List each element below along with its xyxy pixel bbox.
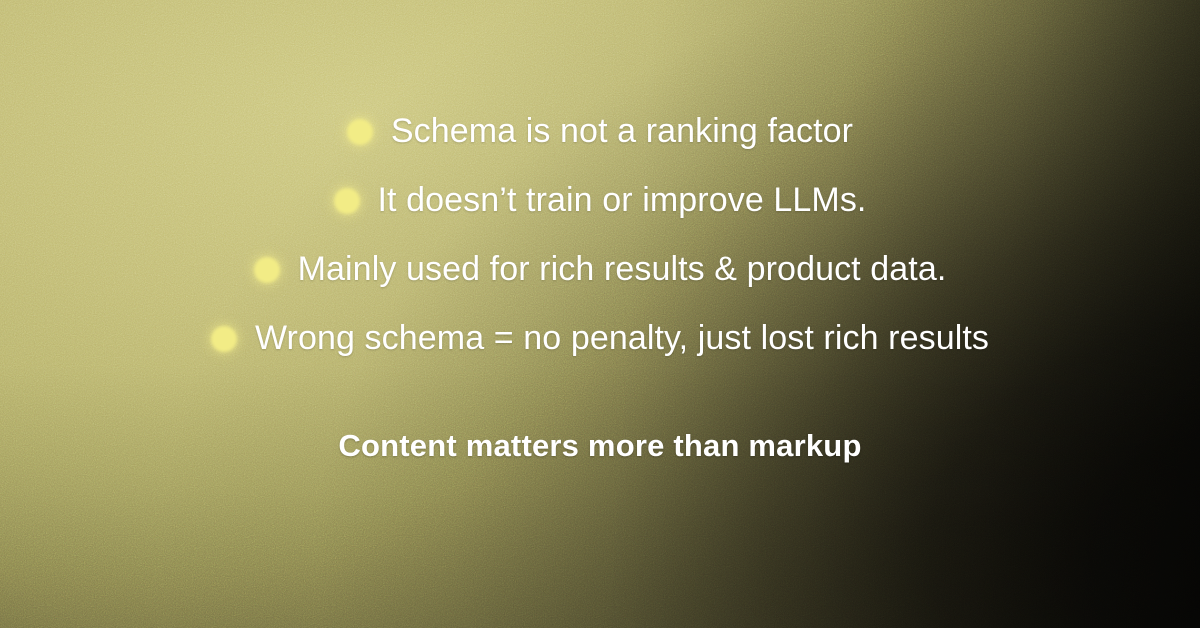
bullet-item: Schema is not a ranking factor xyxy=(347,112,853,151)
bullet-text: Schema is not a ranking factor xyxy=(391,112,853,151)
bullet-item: Wrong schema = no penalty, just lost ric… xyxy=(211,319,989,358)
bullet-dot-icon xyxy=(347,119,373,145)
bullet-text: Wrong schema = no penalty, just lost ric… xyxy=(255,319,989,358)
card-content: Schema is not a ranking factor It doesn’… xyxy=(0,0,1200,628)
bullet-dot-icon xyxy=(211,326,237,352)
bullet-item: Mainly used for rich results & product d… xyxy=(254,250,947,289)
bullet-text: Mainly used for rich results & product d… xyxy=(298,250,947,289)
insight-card: Schema is not a ranking factor It doesn’… xyxy=(0,0,1200,628)
bullet-item: It doesn’t train or improve LLMs. xyxy=(334,181,867,220)
bullet-text: It doesn’t train or improve LLMs. xyxy=(378,181,867,220)
closing-statement: Content matters more than markup xyxy=(338,428,861,464)
bullet-dot-icon xyxy=(334,188,360,214)
bullet-dot-icon xyxy=(254,257,280,283)
